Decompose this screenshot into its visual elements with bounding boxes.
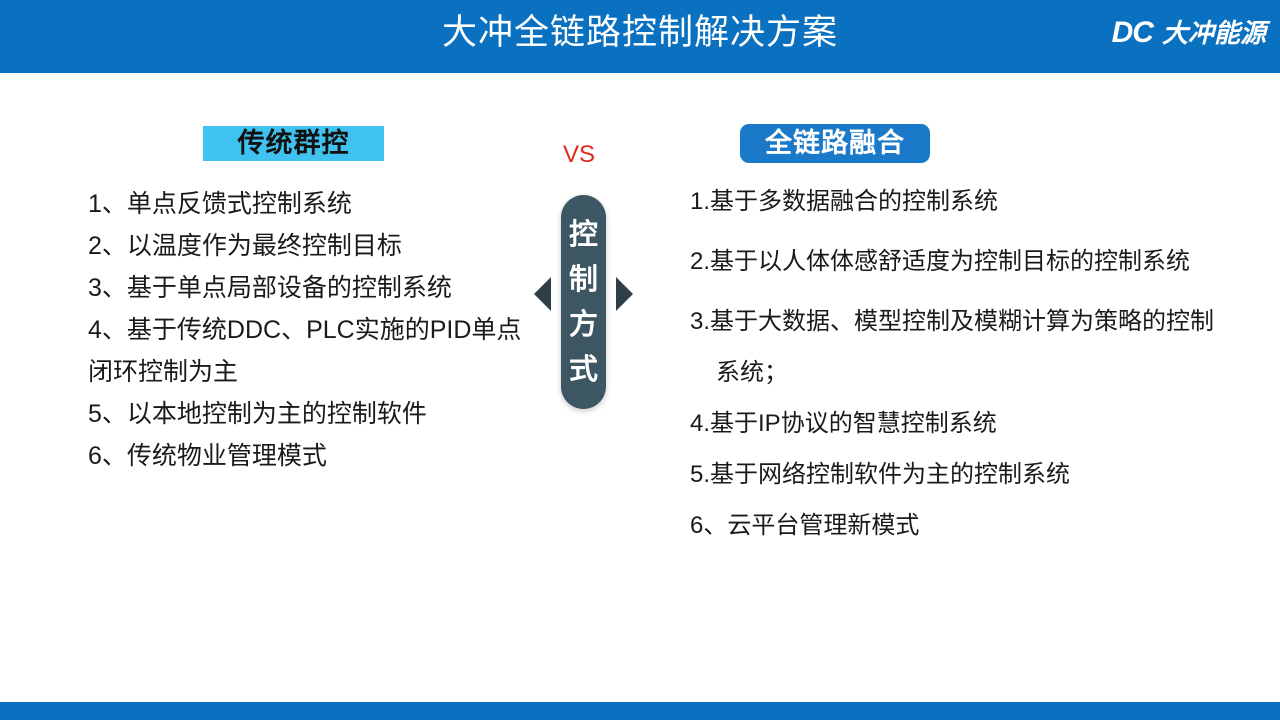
pill-char: 式	[569, 348, 598, 393]
logo-company-name: 大冲能源	[1162, 17, 1266, 49]
list-item: 3.基于大数据、模型控制及模糊计算为策略的控制	[690, 306, 1280, 337]
list-item: 1、单点反馈式控制系统	[88, 183, 538, 225]
list-item: 5.基于网络控制软件为主的控制系统	[690, 459, 1280, 490]
footer-bar	[0, 702, 1280, 720]
list-item: 3、基于单点局部设备的控制系统	[88, 267, 538, 309]
list-item: 6、云平台管理新模式	[690, 510, 1280, 541]
left-column-list: 1、单点反馈式控制系统 2、以温度作为最终控制目标 3、基于单点局部设备的控制系…	[88, 183, 538, 477]
arrow-left-icon	[534, 277, 551, 311]
page-title: 大冲全链路控制解决方案	[0, 8, 1280, 58]
list-item: 6、传统物业管理模式	[88, 435, 538, 477]
list-item: 2、以温度作为最终控制目标	[88, 225, 538, 267]
vs-label: VS	[544, 140, 614, 170]
right-column-badge: 全链路融合	[740, 124, 930, 163]
list-item: 4、基于传统DDC、PLC实施的PID单点闭环控制为主	[88, 309, 538, 393]
list-item: 4.基于IP协议的智慧控制系统	[690, 408, 1280, 439]
pill-char: 方	[569, 303, 598, 348]
list-item: 5、以本地控制为主的控制软件	[88, 393, 538, 435]
pill-char: 控	[569, 213, 598, 258]
list-item-continuation: 系统；	[690, 357, 1280, 388]
arrow-right-icon	[616, 277, 633, 311]
list-item: 2.基于以人体体感舒适度为控制目标的控制系统	[690, 246, 1280, 277]
pill-char: 制	[569, 258, 598, 303]
control-method-pill: 控 制 方 式	[561, 195, 606, 409]
left-column-badge: 传统群控	[203, 126, 384, 161]
logo-mark-text: DC	[1112, 17, 1153, 49]
brand-logo: DC 大冲能源	[1112, 17, 1266, 49]
right-column-list: 1.基于多数据融合的控制系统 2.基于以人体体感舒适度为控制目标的控制系统 3.…	[690, 186, 1280, 561]
list-item: 1.基于多数据融合的控制系统	[690, 186, 1280, 217]
slide-root: 大冲全链路控制解决方案 DC 大冲能源 传统群控 1、单点反馈式控制系统 2、以…	[0, 0, 1280, 720]
